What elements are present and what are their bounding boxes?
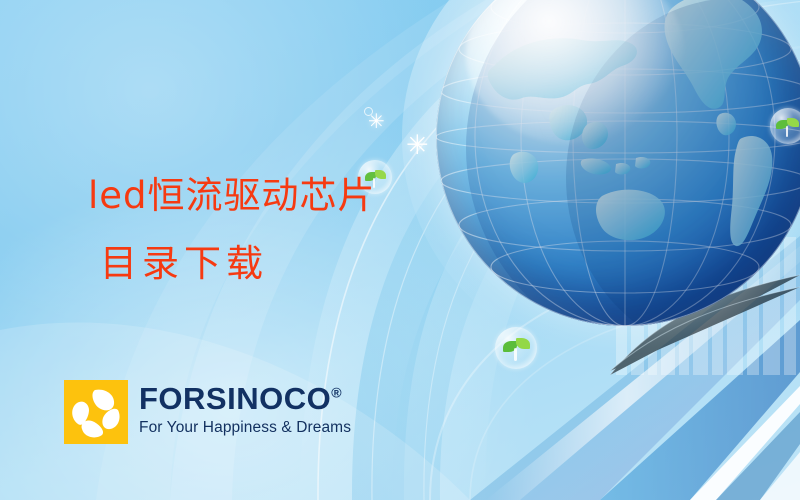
stem-shape [786, 126, 788, 137]
small-circle-icon [364, 107, 373, 116]
globe-sphere [436, 0, 800, 326]
brand-name-word: FORSINOCO [139, 381, 331, 416]
brand-logo: FORSINOCO® For Your Happiness & Dreams [64, 380, 351, 444]
headline-line-2: 目录下载 [88, 230, 376, 298]
sparkle-star-icon: ✳ [406, 132, 429, 159]
headline-line-1: led恒流驱动芯片 [88, 174, 376, 217]
promo-banner: ✳ ✳ led恒流驱动芯片 目录下载 [0, 0, 800, 500]
pinwheel-flower-icon [64, 380, 128, 444]
stem-shape [514, 348, 517, 361]
bubble-leaf-icon [770, 108, 800, 144]
registered-trademark-icon: ® [331, 385, 342, 401]
leaf-shape [375, 170, 386, 179]
logo-text-block: FORSINOCO® For Your Happiness & Dreams [139, 380, 351, 436]
brand-tagline: For Your Happiness & Dreams [139, 420, 351, 436]
leaf-shape [787, 118, 799, 127]
brand-name: FORSINOCO® [139, 383, 351, 414]
bubble-leaf-icon [495, 327, 537, 369]
leaf-shape [516, 338, 530, 349]
earth-globe-icon [436, 0, 800, 326]
headline-text: led恒流驱动芯片 目录下载 [88, 162, 376, 298]
